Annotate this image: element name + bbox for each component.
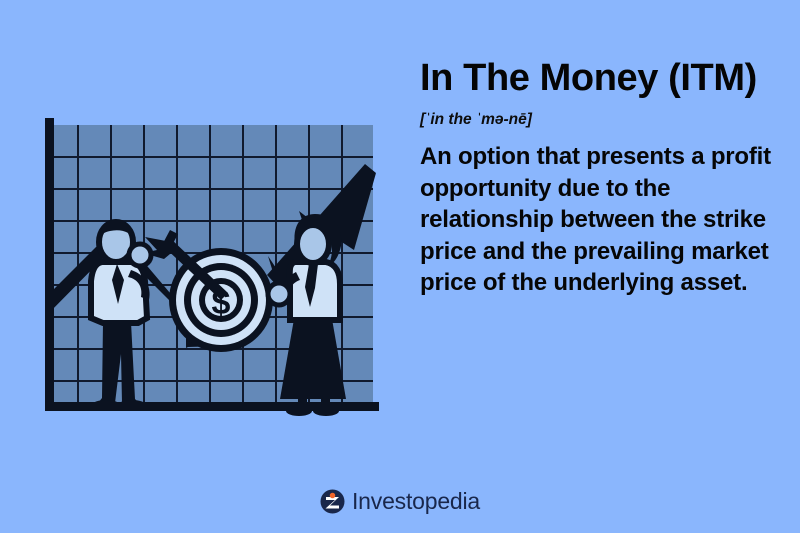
definition-card: $	[0, 0, 800, 533]
investopedia-logo: Investopedia	[0, 489, 800, 514]
chart-x-axis	[45, 402, 379, 411]
definition-text-column: In The Money (ITM) [ˈin the ˈmə-nē] An o…	[420, 56, 788, 299]
investopedia-wordmark: Investopedia	[352, 489, 480, 514]
definition-text: An option that presents a profit opportu…	[420, 141, 788, 299]
investopedia-logo-icon	[320, 489, 345, 514]
chart-y-axis	[45, 118, 54, 411]
page-title: In The Money (ITM)	[420, 56, 788, 101]
illustration-stock-chart: $	[18, 104, 390, 429]
pronunciation: [ˈin the ˈmə-nē]	[420, 110, 788, 129]
